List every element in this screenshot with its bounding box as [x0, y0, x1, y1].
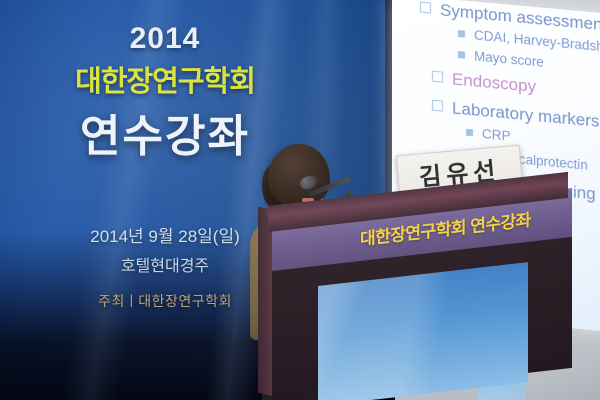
slide-line-mayo-score: Mayo score: [458, 47, 544, 70]
slide-line-laboratory-markers: Laboratory markers: [432, 97, 599, 132]
bullet-square-filled-icon: [458, 30, 465, 38]
slide-line-endoscopy: Endoscopy: [432, 68, 536, 97]
bullet-square-filled-icon: [466, 129, 473, 137]
bullet-square-filled-icon: [458, 51, 465, 59]
banner-organization: 대한장연구학회: [0, 58, 330, 100]
podium-front-panel: [318, 262, 528, 400]
bullet-square-outline-icon: [432, 71, 443, 83]
photo-scene: 2014 대한장연구학회 연수강좌 2014년 9월 28일(일) 호텔현대경주…: [0, 0, 600, 400]
bullet-square-outline-icon: [432, 100, 443, 112]
bullet-square-outline-icon: [420, 2, 431, 14]
slide-line-crp: CRP: [466, 125, 511, 144]
speaker-hair: [268, 144, 330, 206]
banner-year: 2014: [0, 22, 330, 56]
